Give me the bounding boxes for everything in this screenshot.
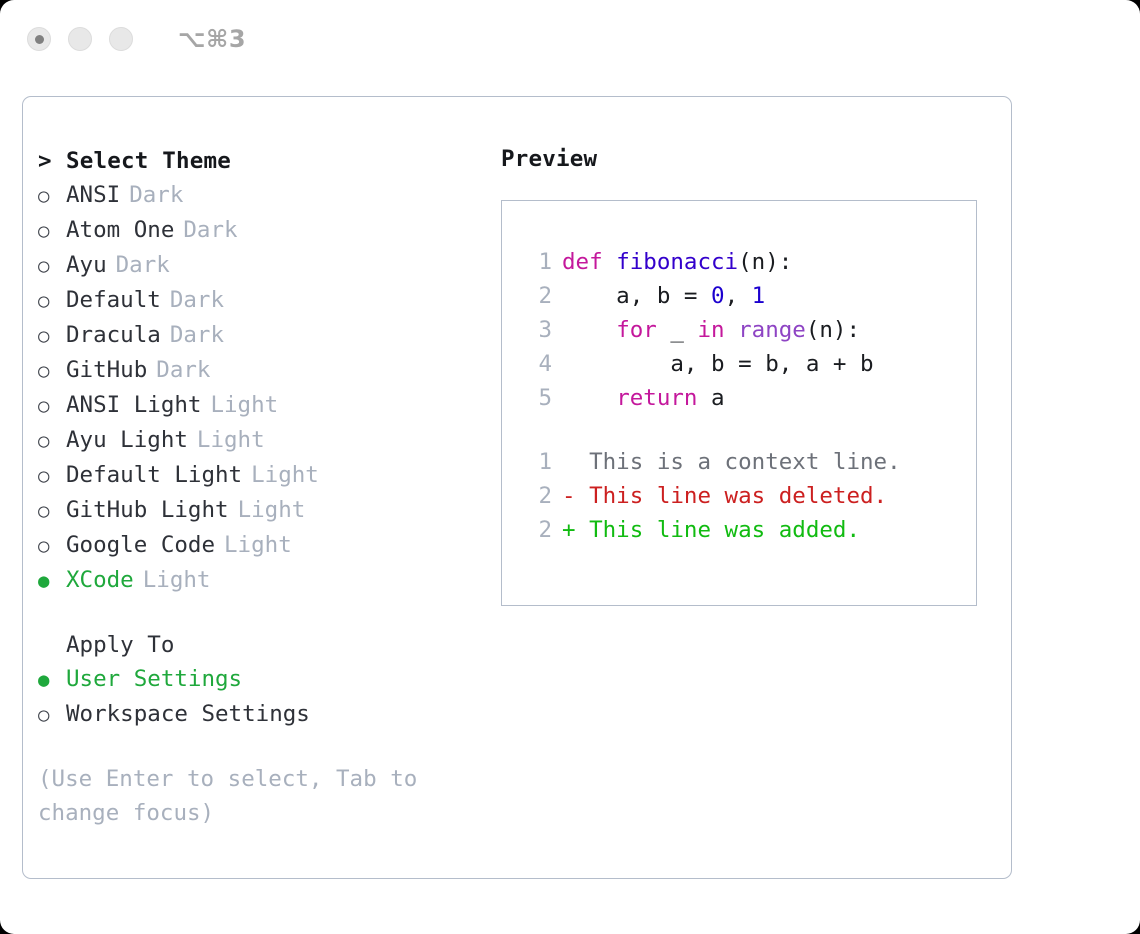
theme-list-item[interactable]: ○Ayu LightLight bbox=[38, 423, 478, 458]
code-token-num: 1 bbox=[752, 283, 766, 309]
code-token-plain: a, b = b, a + b bbox=[562, 351, 874, 377]
diff-line-text: This line was added. bbox=[576, 513, 860, 547]
theme-variant-badge: Dark bbox=[129, 178, 183, 212]
theme-name: XCode bbox=[66, 563, 134, 597]
theme-variant-badge: Dark bbox=[183, 213, 237, 247]
code-token-plain: (n): bbox=[806, 317, 860, 343]
apply-to-heading: · Apply To bbox=[38, 628, 478, 662]
apply-to-list: ●User Settings○Workspace Settings bbox=[38, 662, 478, 732]
theme-list-item[interactable]: ●XCodeLight bbox=[38, 563, 478, 598]
preview-heading-label: Preview bbox=[501, 144, 991, 174]
code-line-text: a, b = b, a + b bbox=[562, 347, 874, 381]
code-line-text: def fibonacci(n): bbox=[562, 245, 792, 279]
select-theme-heading-label: Select Theme bbox=[66, 144, 231, 178]
line-number: 4 bbox=[522, 347, 552, 381]
radio-unselected-icon: ○ bbox=[38, 319, 66, 353]
theme-variant-badge: Dark bbox=[156, 353, 210, 387]
radio-unselected-icon: ○ bbox=[38, 284, 66, 318]
theme-name: Dracula bbox=[66, 318, 161, 352]
theme-variant-badge: Light bbox=[210, 388, 278, 422]
line-number: 2 bbox=[522, 279, 552, 313]
code-token-plain: _ bbox=[657, 317, 698, 343]
diff-line: 2- This line was deleted. bbox=[502, 479, 976, 513]
select-theme-heading: > Select Theme bbox=[38, 144, 478, 178]
line-number: 3 bbox=[522, 313, 552, 347]
theme-variant-badge: Dark bbox=[116, 248, 170, 282]
theme-selector-column: > Select Theme ○ANSIDark○Atom OneDark○Ay… bbox=[38, 144, 478, 830]
radio-unselected-icon: ○ bbox=[38, 214, 66, 248]
window-titlebar: ⌥⌘3 bbox=[0, 0, 1140, 78]
radio-selected-icon: ● bbox=[38, 564, 66, 598]
theme-variant-badge: Dark bbox=[170, 318, 224, 352]
code-token-bi: range bbox=[738, 317, 806, 343]
theme-variant-badge: Light bbox=[251, 458, 319, 492]
radio-unselected-icon: ○ bbox=[38, 389, 66, 423]
radio-unselected-icon: ○ bbox=[38, 424, 66, 458]
radio-selected-icon: ● bbox=[38, 663, 66, 697]
radio-unselected-icon: ○ bbox=[38, 459, 66, 493]
diff-line: 1 This is a context line. bbox=[502, 445, 976, 479]
line-number: 1 bbox=[522, 245, 552, 279]
code-token-plain: , bbox=[725, 283, 752, 309]
theme-list-item[interactable]: ○Default LightLight bbox=[38, 458, 478, 493]
radio-unselected-icon: ○ bbox=[38, 354, 66, 388]
diff-sign: - bbox=[562, 479, 576, 513]
code-line-text: for _ in range(n): bbox=[562, 313, 860, 347]
theme-name: Default bbox=[66, 283, 161, 317]
theme-name: ANSI Light bbox=[66, 388, 201, 422]
line-number: 1 bbox=[522, 445, 552, 479]
theme-list-item[interactable]: ○GitHub LightLight bbox=[38, 493, 478, 528]
theme-name: GitHub bbox=[66, 353, 147, 387]
radio-unselected-icon: ○ bbox=[38, 179, 66, 213]
line-number: 5 bbox=[522, 381, 552, 415]
list-spacer bbox=[38, 598, 478, 628]
theme-name: Google Code bbox=[66, 528, 215, 562]
code-token-kw: in bbox=[697, 317, 724, 343]
code-token-plain: a, b = bbox=[562, 283, 711, 309]
minimize-button[interactable] bbox=[68, 27, 92, 51]
code-line: 2 a, b = 0, 1 bbox=[502, 279, 976, 313]
code-line-text: return a bbox=[562, 381, 725, 415]
theme-list: ○ANSIDark○Atom OneDark○AyuDark○DefaultDa… bbox=[38, 178, 478, 598]
diff-line: 2+ This line was added. bbox=[502, 513, 976, 547]
diff-sign bbox=[562, 445, 576, 479]
app-window: ⌥⌘3 > Select Theme ○ANSIDark○Atom OneDar… bbox=[0, 0, 1140, 934]
traffic-light-group bbox=[27, 27, 133, 51]
apply-to-item[interactable]: ●User Settings bbox=[38, 662, 478, 697]
radio-unselected-icon: ○ bbox=[38, 494, 66, 528]
code-token-plain bbox=[725, 317, 739, 343]
theme-variant-badge: Light bbox=[197, 423, 265, 457]
apply-to-heading-label: Apply To bbox=[66, 628, 174, 662]
maximize-button[interactable] bbox=[109, 27, 133, 51]
theme-list-item[interactable]: ○DefaultDark bbox=[38, 283, 478, 318]
theme-variant-badge: Light bbox=[238, 493, 306, 527]
blank-marker-icon: · bbox=[38, 628, 66, 662]
preview-column: Preview 1def fibonacci(n):2 a, b = 0, 13… bbox=[501, 144, 991, 606]
diff-sign: + bbox=[562, 513, 576, 547]
theme-list-item[interactable]: ○DraculaDark bbox=[38, 318, 478, 353]
code-token-kw: for bbox=[616, 317, 657, 343]
line-number: 2 bbox=[522, 479, 552, 513]
code-token-plain bbox=[562, 317, 616, 343]
keyboard-shortcut-label: ⌥⌘3 bbox=[178, 25, 246, 53]
theme-variant-badge: Light bbox=[224, 528, 292, 562]
apply-to-item[interactable]: ○Workspace Settings bbox=[38, 697, 478, 732]
apply-to-label: User Settings bbox=[66, 662, 242, 696]
theme-list-item[interactable]: ○Google CodeLight bbox=[38, 528, 478, 563]
diff-line-text: This is a context line. bbox=[576, 445, 901, 479]
theme-list-item[interactable]: ○GitHubDark bbox=[38, 353, 478, 388]
theme-list-item[interactable]: ○ANSI LightLight bbox=[38, 388, 478, 423]
radio-unselected-icon: ○ bbox=[38, 529, 66, 563]
code-line: 5 return a bbox=[502, 381, 976, 415]
theme-name: Ayu bbox=[66, 248, 107, 282]
line-number: 2 bbox=[522, 513, 552, 547]
code-token-kw: return bbox=[616, 385, 697, 411]
code-token-plain bbox=[562, 385, 616, 411]
theme-list-item[interactable]: ○AyuDark bbox=[38, 248, 478, 283]
apply-to-label: Workspace Settings bbox=[66, 697, 310, 731]
code-line: 1def fibonacci(n): bbox=[502, 245, 976, 279]
code-preview: 1def fibonacci(n):2 a, b = 0, 13 for _ i… bbox=[502, 245, 976, 415]
radio-unselected-icon: ○ bbox=[38, 698, 66, 732]
code-token-kw: def bbox=[562, 249, 616, 275]
code-line: 3 for _ in range(n): bbox=[502, 313, 976, 347]
code-line: 4 a, b = b, a + b bbox=[502, 347, 976, 381]
active-indicator-dot bbox=[35, 35, 44, 44]
theme-name: GitHub Light bbox=[66, 493, 229, 527]
theme-name: Ayu Light bbox=[66, 423, 188, 457]
diff-preview: 1 This is a context line.2- This line wa… bbox=[502, 445, 976, 547]
preview-box: 1def fibonacci(n):2 a, b = 0, 13 for _ i… bbox=[501, 200, 977, 606]
theme-list-item[interactable]: ○Atom OneDark bbox=[38, 213, 478, 248]
close-button[interactable] bbox=[27, 27, 51, 51]
code-token-plain: a bbox=[697, 385, 724, 411]
caret-icon: > bbox=[38, 144, 66, 178]
preview-gap bbox=[502, 415, 976, 445]
theme-name: Atom One bbox=[66, 213, 174, 247]
code-line-text: a, b = 0, 1 bbox=[562, 279, 765, 313]
radio-unselected-icon: ○ bbox=[38, 249, 66, 283]
code-token-num: 0 bbox=[711, 283, 725, 309]
theme-variant-badge: Light bbox=[143, 563, 211, 597]
diff-line-text: This line was deleted. bbox=[576, 479, 888, 513]
theme-list-item[interactable]: ○ANSIDark bbox=[38, 178, 478, 213]
main-panel: > Select Theme ○ANSIDark○Atom OneDark○Ay… bbox=[22, 96, 1012, 879]
theme-variant-badge: Dark bbox=[170, 283, 224, 317]
theme-name: Default Light bbox=[66, 458, 242, 492]
code-token-plain: (n): bbox=[738, 249, 792, 275]
theme-name: ANSI bbox=[66, 178, 120, 212]
keyboard-hint: (Use Enter to select, Tab to change focu… bbox=[38, 762, 438, 830]
code-token-fn: fibonacci bbox=[616, 249, 738, 275]
